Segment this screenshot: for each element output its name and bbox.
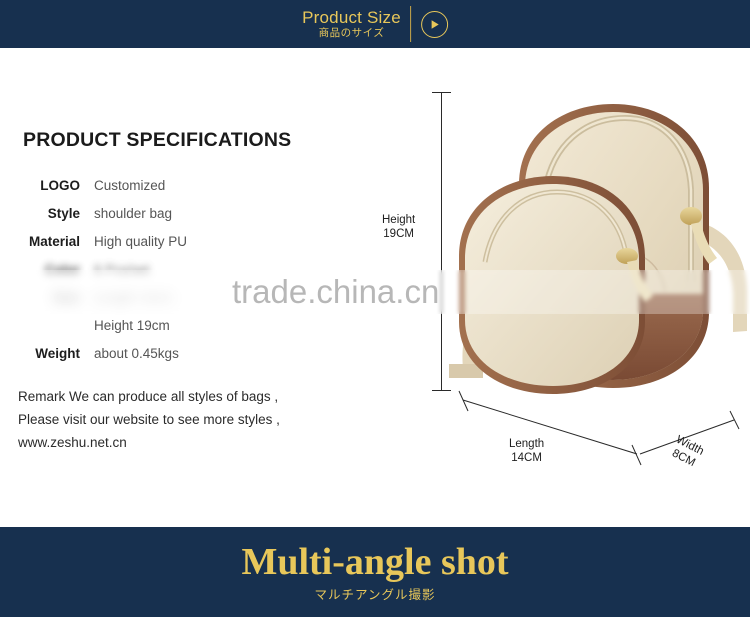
spec-label: Style [0, 206, 80, 221]
remark-line: Please visit our website to see more sty… [18, 408, 280, 431]
banner-title: Product Size [302, 8, 401, 27]
footer-title: Multi-angle shot [241, 540, 508, 584]
spec-label: LOGO [0, 178, 80, 193]
remark-line: Remark We can produce all styles of bags… [18, 385, 280, 408]
length-dimension-label: Length 14CM [509, 437, 544, 465]
spec-row: Weightabout 0.45kgs [0, 346, 330, 374]
spec-label: Weight [0, 346, 80, 361]
spec-value: about 0.45kgs [94, 346, 179, 361]
banner-subtitle-japanese: 商品のサイズ [319, 27, 385, 40]
height-dimension-cap-bottom [432, 390, 451, 391]
height-dimension-line [441, 92, 442, 390]
height-dimension-label: Height 19CM [382, 213, 415, 241]
spec-label: Material [0, 234, 80, 249]
spec-value: Height 19cm [94, 318, 170, 333]
spec-row: Height 19cm [0, 318, 330, 346]
remark-text: Remark We can produce all styles of bags… [18, 385, 280, 454]
spec-value: Customized [94, 178, 165, 193]
remark-line: www.zeshu.net.cn [18, 431, 280, 454]
specifications-heading: PRODUCT SPECIFICATIONS [23, 129, 291, 152]
height-dimension-cap-top [432, 92, 451, 93]
banner-title-block: Product Size 商品のサイズ [302, 6, 411, 42]
multi-angle-shot-banner: Multi-angle shot マルチアングル撮影 [0, 527, 750, 617]
spec-row: LOGOCustomized [0, 178, 330, 206]
product-size-banner: Product Size 商品のサイズ [0, 0, 750, 48]
spec-value: shoulder bag [94, 206, 172, 221]
shoulder-bag-photo [441, 86, 750, 406]
footer-subtitle-japanese: マルチアングル撮影 [314, 586, 435, 604]
height-label-value: 19CM [382, 227, 415, 241]
banner-content: Product Size 商品のサイズ [302, 0, 448, 48]
spec-value: High quality PU [94, 234, 187, 249]
width-dimension-label: Width 8CM [667, 433, 706, 471]
spec-row: Styleshoulder bag [0, 206, 330, 234]
circle-arrow-right-icon[interactable] [421, 11, 448, 38]
product-size-content: Height 19CM Length 14CM Width 8CM PRODUC… [0, 48, 750, 527]
watermark-text: trade.china.cn [232, 273, 439, 311]
spec-row: MaterialHigh quality PU [0, 234, 330, 262]
length-label-value: 14CM [509, 451, 544, 465]
length-label-text: Length [509, 437, 544, 451]
height-label-text: Height [382, 213, 415, 227]
